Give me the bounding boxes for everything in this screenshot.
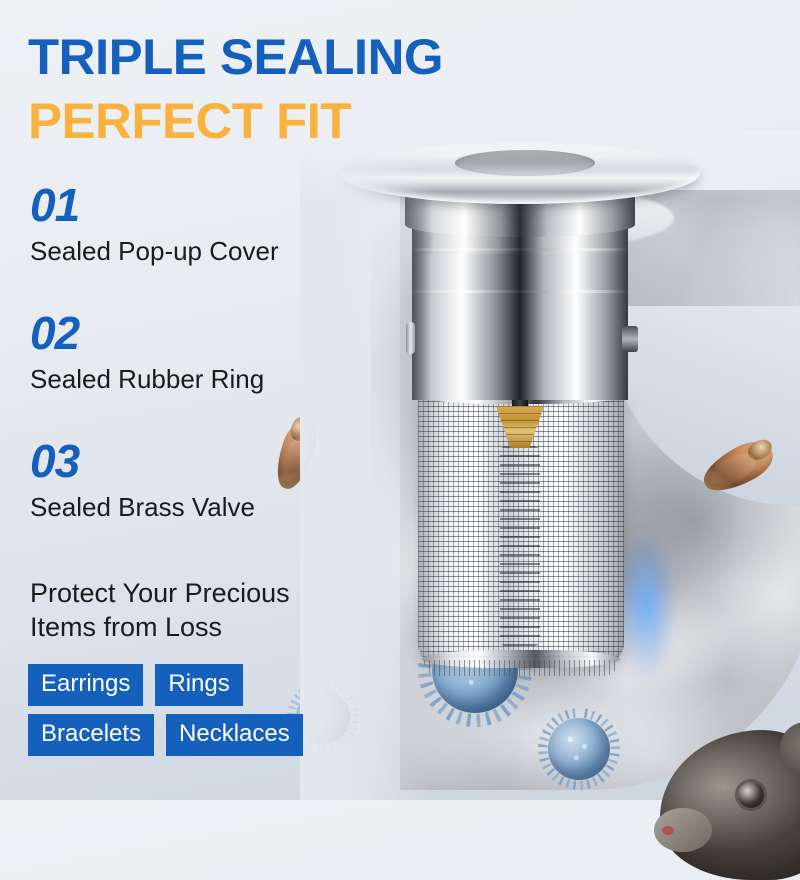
headline-line1: TRIPLE SEALING xyxy=(28,32,443,82)
protect-headline: Protect Your Precious Items from Loss xyxy=(30,576,380,644)
tag-bracelets[interactable]: Bracelets xyxy=(28,714,154,756)
headline-line2: PERFECT FIT xyxy=(28,96,351,146)
tag-row: Bracelets Necklaces xyxy=(28,714,368,756)
item-tag-list: Earrings Rings Bracelets Necklaces xyxy=(28,664,368,764)
tag-necklaces[interactable]: Necklaces xyxy=(166,714,303,756)
feature-item-03: 03 Sealed Brass Valve xyxy=(30,438,255,523)
rat-nose xyxy=(662,826,674,835)
tag-rings[interactable]: Rings xyxy=(155,664,242,706)
feature-label: Sealed Pop-up Cover xyxy=(30,236,279,267)
tag-earrings[interactable]: Earrings xyxy=(28,664,143,706)
protect-line2: Items from Loss xyxy=(30,610,380,644)
feature-label: Sealed Brass Valve xyxy=(30,492,255,523)
feature-number: 03 xyxy=(30,438,255,484)
feature-label: Sealed Rubber Ring xyxy=(30,364,264,395)
protect-line1: Protect Your Precious xyxy=(30,576,380,610)
text-content: TRIPLE SEALING PERFECT FIT 01 Sealed Pop… xyxy=(0,0,800,800)
feature-item-01: 01 Sealed Pop-up Cover xyxy=(30,182,279,267)
tag-row: Earrings Rings xyxy=(28,664,368,706)
feature-number: 01 xyxy=(30,182,279,228)
poster-canvas: TRIPLE SEALING PERFECT FIT 01 Sealed Pop… xyxy=(0,0,800,800)
feature-number: 02 xyxy=(30,310,264,356)
feature-item-02: 02 Sealed Rubber Ring xyxy=(30,310,264,395)
